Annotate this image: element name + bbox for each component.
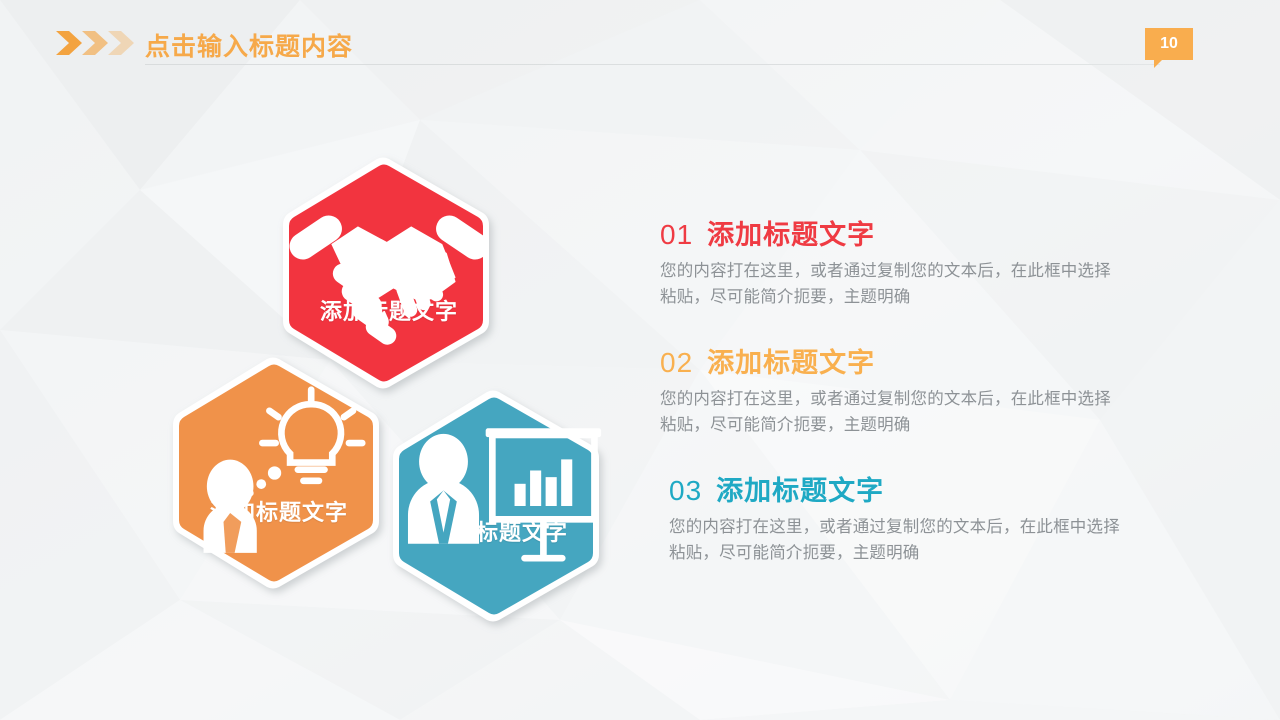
point-item-02: 02 添加标题文字 您的内容打在这里，或者通过复制您的文本后，在此框中选择粘贴，… [660, 341, 1130, 438]
point-item-01: 01 添加标题文字 您的内容打在这里，或者通过复制您的文本后，在此框中选择粘贴，… [660, 213, 1130, 310]
point-title-02: 添加标题文字 [707, 341, 875, 380]
point-heading-03: 03 添加标题文字 [669, 469, 1130, 508]
points-list: 01 添加标题文字 您的内容打在这里，或者通过复制您的文本后，在此框中选择粘贴，… [660, 213, 1130, 566]
point-body-02: 您的内容打在这里，或者通过复制您的文本后，在此框中选择粘贴，尽可能简介扼要，主题… [660, 387, 1115, 438]
page-number-label: 10 [1160, 35, 1178, 53]
slide-canvas: 点击输入标题内容 10 [0, 0, 1280, 720]
presenter-chart-board-icon [461, 437, 537, 509]
page-number-badge: 10 [1145, 28, 1193, 60]
double-chevron-right-icon [56, 29, 136, 57]
page-title: 点击输入标题内容 [145, 27, 353, 63]
point-number-03: 03 [669, 475, 702, 507]
point-title-01: 添加标题文字 [707, 213, 875, 252]
hexagon-card-red[interactable]: 添加标题文字 [278, 155, 500, 391]
slide-header: 点击输入标题内容 10 [0, 0, 1280, 70]
person-idea-lightbulb-icon [241, 417, 317, 489]
point-number-01: 01 [660, 219, 693, 251]
handshake-icon [351, 216, 427, 288]
point-heading-01: 01 添加标题文字 [660, 213, 1130, 252]
point-body-01: 您的内容打在这里，或者通过复制您的文本后，在此框中选择粘贴，尽可能简介扼要，主题… [660, 259, 1115, 310]
header-divider [145, 64, 1160, 65]
hexagon-card-blue[interactable]: 添加标题文字 [388, 388, 610, 624]
point-title-03: 添加标题文字 [716, 469, 884, 508]
point-number-02: 02 [660, 347, 693, 379]
point-heading-02: 02 添加标题文字 [660, 341, 1130, 380]
hexagon-cluster: 添加标题文字 [160, 155, 620, 615]
point-body-03: 您的内容打在这里，或者通过复制您的文本后，在此框中选择粘贴，尽可能简介扼要，主题… [669, 515, 1124, 566]
point-item-03: 03 添加标题文字 您的内容打在这里，或者通过复制您的文本后，在此框中选择粘贴，… [660, 469, 1130, 566]
